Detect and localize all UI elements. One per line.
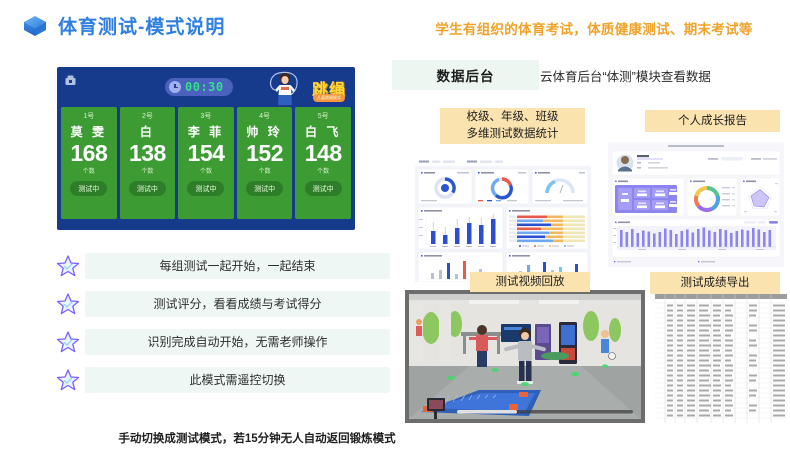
student-count: 154 — [188, 141, 225, 165]
slide-title-row: 体育测试-模式说明 — [22, 12, 225, 39]
feature-bullet-list: 每组测试一起开始，一起结束 测试评分，看看成绩与考试得分 识别完成自动开始，无需… — [55, 248, 390, 400]
star-icon — [55, 367, 81, 393]
bullet-label: 此模式需遥控切换 — [85, 367, 390, 393]
student-card[interactable]: 3号 李 菲 154 个数 测试中 — [178, 107, 234, 219]
device-topbar: 00:30 跳绳 儿童跳绳模式 — [57, 67, 355, 107]
countdown-timer: 00:30 — [165, 78, 233, 96]
student-card[interactable]: 1号 莫 雯 168 个数 测试中 — [61, 107, 117, 219]
tag-personal-growth-report: 个人成长报告 — [645, 110, 780, 132]
tag-multi-dimension-stats: 校级、年级、班级 多维测试数据统计 — [440, 108, 585, 144]
count-unit: 个数 — [200, 166, 212, 175]
student-number: 1号 — [83, 111, 94, 121]
jump-rope-girl-icon — [264, 68, 306, 108]
bullet-label: 识别完成自动开始，无需老师操作 — [85, 329, 390, 355]
student-card[interactable]: 4号 帅 玲 152 个数 测试中 — [237, 107, 293, 219]
star-icon — [55, 329, 81, 355]
test-video-playback-frame[interactable] — [405, 290, 645, 423]
student-count: 168 — [70, 141, 107, 165]
bullet-label: 每组测试一起开始，一起结束 — [85, 253, 390, 279]
student-count: 138 — [129, 141, 166, 165]
data-backend-description: 云体育后台“体测”模块查看数据 — [540, 60, 711, 90]
stats-dashboard-graphic — [415, 157, 591, 282]
status-badge: 测试中 — [305, 181, 342, 196]
student-card-list: 1号 莫 雯 168 个数 测试中 2号 白 138 个数 测试中 3号 李 菲… — [57, 107, 355, 219]
sport-mode-badge: 儿童跳绳模式 — [313, 94, 345, 102]
student-card[interactable]: 5号 白 飞 148 个数 测试中 — [295, 107, 351, 219]
student-name: 帅 玲 — [246, 123, 282, 140]
spreadsheet-graphic — [655, 292, 787, 423]
count-unit: 个数 — [259, 166, 271, 175]
bullet-footnote: 手动切换成测试模式，若15分钟无人自动返回锻炼模式 — [77, 430, 437, 446]
school-logo-icon — [64, 74, 77, 87]
star-icon — [55, 291, 81, 317]
student-count: 152 — [246, 141, 283, 165]
student-card[interactable]: 2号 白 138 个数 测试中 — [120, 107, 176, 219]
tag-score-export: 测试成绩导出 — [650, 272, 780, 294]
student-name: 白 飞 — [305, 123, 341, 140]
list-item: 每组测试一起开始，一起结束 — [55, 248, 390, 284]
student-name: 莫 雯 — [71, 123, 107, 140]
status-badge: 测试中 — [129, 181, 166, 196]
clock-icon — [169, 81, 181, 93]
student-name: 李 菲 — [188, 123, 224, 140]
score-export-spreadsheet[interactable] — [655, 292, 787, 423]
status-badge: 测试中 — [70, 181, 107, 196]
count-unit: 个数 — [141, 166, 153, 175]
bullet-label: 测试评分，看看成绩与考试得分 — [85, 291, 390, 317]
device-screen-panel: 00:30 跳绳 儿童跳绳模式 1号 — [57, 67, 355, 230]
tag-line-2: 多维测试数据统计 — [467, 126, 559, 143]
list-item: 此模式需遥控切换 — [55, 362, 390, 398]
student-number: 3号 — [201, 111, 212, 121]
scenario-header-text: 学生有组织的体育考试，体质健康测试、期末考试等 — [404, 18, 784, 38]
personal-growth-report-dashboard[interactable] — [608, 142, 784, 267]
cube-logo-icon — [22, 13, 48, 39]
gym-video-still — [409, 294, 641, 419]
status-badge: 测试中 — [246, 181, 283, 196]
count-unit: 个数 — [83, 166, 95, 175]
list-item: 识别完成自动开始，无需老师操作 — [55, 324, 390, 360]
student-number: 4号 — [259, 111, 270, 121]
student-name: 白 — [140, 123, 155, 140]
tag-test-video-playback: 测试视频回放 — [470, 272, 590, 292]
data-backend-chip: 数据后台 — [392, 60, 539, 90]
count-unit: 个数 — [317, 166, 329, 175]
page-title: 体育测试-模式说明 — [58, 12, 225, 39]
status-badge: 测试中 — [187, 181, 224, 196]
growth-report-graphic — [608, 142, 784, 267]
tag-line-1: 校级、年级、班级 — [467, 109, 559, 126]
timer-value: 00:30 — [185, 80, 224, 94]
multi-dimension-stats-dashboard[interactable] — [415, 157, 591, 282]
student-number: 5号 — [318, 111, 329, 121]
star-icon — [55, 253, 81, 279]
student-count: 148 — [305, 141, 342, 165]
student-number: 2号 — [142, 111, 153, 121]
list-item: 测试评分，看看成绩与考试得分 — [55, 286, 390, 322]
slide-page: 体育测试-模式说明 学生有组织的体育考试，体质健康测试、期末考试等 00:30 — [0, 0, 790, 451]
